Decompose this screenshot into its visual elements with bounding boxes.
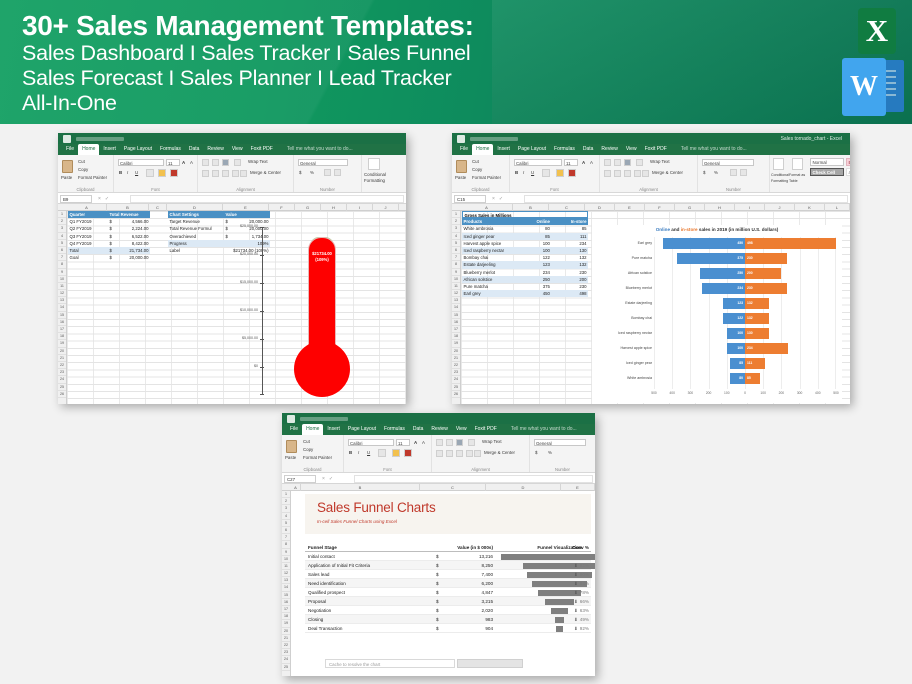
orientation-icon[interactable] [636, 159, 643, 166]
font-size-box[interactable]: 11 [396, 439, 410, 446]
cell-quarter[interactable]: Q4 FY2019 [68, 240, 108, 247]
ribbon-group-font[interactable]: Calibri 11 A A B I U Font [344, 435, 432, 473]
col-F[interactable]: F [645, 204, 675, 211]
row-5[interactable]: 5 [58, 240, 66, 247]
cell-online[interactable]: 122 [515, 254, 552, 261]
align-bottom-icon[interactable] [456, 439, 463, 446]
cell-instore[interactable]: 132 [551, 254, 588, 261]
row-19[interactable]: 19 [452, 340, 460, 347]
tab-foxit-pdf[interactable]: Foxit PDF [641, 144, 671, 155]
row-headers[interactable]: 12 34 56 78 910 1112 1314 1516 1718 1920… [452, 211, 461, 404]
cell-quarter[interactable]: Total [68, 247, 108, 254]
row-18[interactable]: 18 [452, 333, 460, 340]
ribbon-group-styles[interactable]: Conditional Formatting [362, 155, 406, 193]
funnel-row[interactable]: Closing $ 983 ⬇49% [305, 615, 591, 624]
paste-label[interactable]: Paste [61, 175, 72, 181]
wrap-text-label[interactable]: Wrap Text [650, 159, 670, 165]
row-6[interactable]: 6 [452, 247, 460, 254]
cell-online[interactable]: 80 [515, 225, 552, 232]
align-left-icon[interactable] [436, 450, 443, 457]
col-B[interactable]: B [107, 204, 149, 211]
row-24[interactable]: 24 [58, 376, 66, 383]
tab-formulas[interactable]: Formulas [380, 424, 409, 435]
font-name-box[interactable]: Calibri [514, 159, 562, 166]
cell-instore[interactable]: 132 [551, 261, 588, 268]
row-18[interactable]: 18 [58, 333, 66, 340]
row-19[interactable]: 19 [282, 620, 290, 627]
paste-label[interactable]: Paste [285, 455, 296, 461]
percent-style-icon[interactable]: % [714, 170, 718, 176]
italic-button[interactable]: I [523, 170, 524, 176]
row-24[interactable]: 24 [282, 656, 290, 663]
ribbon-group-number[interactable]: General $ % Number [698, 155, 770, 193]
row-7[interactable]: 7 [58, 254, 66, 261]
row-10[interactable]: 10 [282, 556, 290, 563]
col-J[interactable]: J [373, 204, 399, 211]
align-center-icon[interactable] [212, 170, 219, 177]
wrap-text-label[interactable]: Wrap Text [482, 439, 502, 445]
orientation-icon[interactable] [234, 159, 241, 166]
format-as-table-icon[interactable] [792, 158, 803, 170]
tab-insert[interactable]: Insert [493, 144, 514, 155]
grow-font-icon[interactable]: A [414, 440, 417, 446]
grow-font-icon[interactable]: A [182, 160, 185, 166]
cell-online[interactable]: 375 [515, 283, 552, 290]
cell-online[interactable]: 85 [515, 233, 552, 240]
percent-style-icon[interactable]: % [310, 170, 314, 176]
align-right-icon[interactable] [456, 450, 463, 457]
ribbon-tabs[interactable]: FileHomeInsertPage LayoutFormulasDataRev… [58, 144, 406, 155]
ribbon-group-clipboard[interactable]: Paste Cut Copy Format Painter Clipboard [452, 155, 510, 193]
conditional-formatting-label[interactable]: Conditional Formatting [364, 172, 398, 184]
funnel-row[interactable]: Negotiation $ 2,020 ⬇63% [305, 606, 591, 615]
row-17[interactable]: 17 [452, 326, 460, 333]
row-22[interactable]: 22 [58, 362, 66, 369]
decrease-indent-icon[interactable] [232, 170, 239, 177]
ribbon-tabs[interactable]: FileHomeInsertPage LayoutFormulasDataRev… [282, 424, 595, 435]
col-D[interactable]: D [486, 484, 561, 491]
row-25[interactable]: 25 [452, 384, 460, 391]
worksheet-grid[interactable]: A B C D E 12 34 56 78 910 1112 1314 1516… [282, 484, 595, 676]
row-6[interactable]: 6 [58, 247, 66, 254]
col-L[interactable]: L [825, 204, 850, 211]
tab-file[interactable]: File [456, 144, 472, 155]
row-21[interactable]: 21 [282, 635, 290, 642]
formula-input[interactable] [524, 195, 848, 203]
row-14[interactable]: 14 [452, 304, 460, 311]
borders-icon[interactable] [146, 169, 154, 177]
worksheet-grid[interactable]: A B C D E F G H I J 1 2 3 4 5 6 7 8 9 10 [58, 204, 406, 404]
increase-decimal-icon[interactable] [730, 169, 737, 176]
row-24[interactable]: 24 [452, 376, 460, 383]
cell-value[interactable]: 6,522.00 [114, 233, 150, 240]
row-15[interactable]: 15 [452, 312, 460, 319]
col-B[interactable]: B [301, 484, 420, 491]
cell-quarter[interactable]: Q1 FY2019 [68, 218, 108, 225]
tab-view[interactable]: View [452, 424, 471, 435]
row-14[interactable]: 14 [282, 584, 290, 591]
bold-button[interactable]: B [119, 170, 122, 176]
formula-input[interactable] [130, 195, 404, 203]
underline-button[interactable]: U [135, 170, 138, 176]
col-A[interactable]: A [461, 204, 513, 211]
col-A[interactable]: A [291, 484, 301, 491]
funnel-action-button[interactable] [457, 659, 523, 668]
cell-product[interactable]: Iced ginger pear [462, 233, 515, 240]
align-bottom-icon[interactable] [222, 159, 229, 166]
tab-view[interactable]: View [228, 144, 247, 155]
row-11[interactable]: 11 [58, 283, 66, 290]
increase-decimal-icon[interactable] [324, 169, 331, 176]
shrink-font-icon[interactable]: A [422, 440, 425, 446]
formula-bar-icons[interactable]: ×✓ [492, 195, 507, 203]
column-headers[interactable]: A B C D E F G H I J [58, 204, 406, 211]
cell-online[interactable]: 450 [515, 290, 552, 297]
fill-color-icon[interactable] [556, 169, 564, 177]
cell-value[interactable]: 4,566.00 [114, 218, 150, 225]
funnel-table[interactable]: Funnel Stage Value (in $ 000s) Funnel Vi… [305, 543, 591, 633]
tab-formulas[interactable]: Formulas [550, 144, 579, 155]
merge-center-label[interactable]: Merge & Center [484, 450, 515, 456]
style-bad[interactable]: Bad [846, 158, 850, 166]
row-headers[interactable]: 12 34 56 78 910 1112 1314 1516 1718 1920… [282, 491, 291, 676]
cell-instore[interactable]: 200 [551, 276, 588, 283]
tab-file[interactable]: File [286, 424, 302, 435]
borders-icon[interactable] [378, 449, 386, 457]
tab-review[interactable]: Review [597, 144, 621, 155]
row-20[interactable]: 20 [58, 348, 66, 355]
cell-instore[interactable]: 234 [551, 240, 588, 247]
row-1[interactable]: 1 [452, 211, 460, 218]
paste-icon[interactable] [456, 160, 467, 173]
ribbon[interactable]: Paste Cut Copy Format Painter Clipboard … [452, 155, 850, 193]
cell-product[interactable]: Iced raspberry nectar [462, 247, 515, 254]
funnel-row[interactable]: Sales lead $ 7,400 ⬇90% [305, 570, 591, 579]
row-13[interactable]: 13 [282, 577, 290, 584]
italic-button[interactable]: I [358, 450, 359, 456]
merge-center-label[interactable]: Merge & Center [652, 170, 683, 176]
col-F[interactable]: F [269, 204, 295, 211]
funnel-note-input[interactable]: Cache to resolve the chart [325, 659, 455, 668]
row-3[interactable]: 3 [282, 505, 290, 512]
copy-label[interactable]: Copy [303, 447, 313, 453]
row-21[interactable]: 21 [58, 355, 66, 362]
increase-indent-icon[interactable] [474, 450, 481, 457]
row-8[interactable]: 8 [282, 541, 290, 548]
tab-foxit-pdf[interactable]: Foxit PDF [471, 424, 501, 435]
row-15[interactable]: 15 [58, 312, 66, 319]
paste-icon[interactable] [286, 440, 297, 453]
row-10[interactable]: 10 [58, 276, 66, 283]
col-H[interactable]: H [705, 204, 735, 211]
bold-button[interactable]: B [515, 170, 518, 176]
column-headers[interactable]: A B C D E [282, 484, 595, 491]
ribbon-group-clipboard[interactable]: Paste Cut Copy Format Painter Clipboard [58, 155, 114, 193]
name-box[interactable]: C15 [454, 195, 486, 203]
cell-value[interactable]: 2,224.00 [114, 225, 150, 232]
row-18[interactable]: 18 [282, 613, 290, 620]
number-format-box[interactable]: General [702, 159, 754, 166]
row-headers[interactable]: 1 2 3 4 5 6 7 8 9 10 11 12 13 14 15 16 1… [58, 211, 67, 404]
tab-view[interactable]: View [622, 144, 641, 155]
col-J[interactable]: J [765, 204, 795, 211]
tab-file[interactable]: File [62, 144, 78, 155]
shrink-font-icon[interactable]: A [190, 160, 193, 166]
row-13[interactable]: 13 [58, 297, 66, 304]
align-right-icon[interactable] [624, 170, 631, 177]
style-explanatory[interactable]: Explanatory ... [846, 168, 850, 176]
style-check-cell[interactable]: Check Cell [810, 168, 844, 176]
paste-label[interactable]: Paste [455, 175, 466, 181]
cell-instore[interactable]: 230 [551, 269, 588, 276]
ribbon-group-styles[interactable]: Conditional Formatting Format as Table N… [770, 155, 850, 193]
borders-icon[interactable] [542, 169, 550, 177]
row-7[interactable]: 7 [282, 534, 290, 541]
row-25[interactable]: 25 [282, 664, 290, 671]
tab-review[interactable]: Review [427, 424, 451, 435]
cut-label[interactable]: Cut [303, 439, 310, 445]
col-C[interactable]: C [420, 484, 486, 491]
column-headers[interactable]: A B C D E F G H I J K L [452, 204, 850, 211]
row-4[interactable]: 4 [282, 513, 290, 520]
row-23[interactable]: 23 [58, 369, 66, 376]
cell-product[interactable]: Estate darjeeling [462, 261, 515, 268]
col-G[interactable]: G [295, 204, 321, 211]
save-icon[interactable] [287, 415, 295, 423]
excel-window-funnel[interactable]: FileHomeInsertPage LayoutFormulasDataRev… [282, 413, 595, 676]
align-right-icon[interactable] [222, 170, 229, 177]
underline-button[interactable]: U [531, 170, 534, 176]
grow-font-icon[interactable]: A [582, 160, 585, 166]
row-10[interactable]: 10 [452, 276, 460, 283]
tab-formulas[interactable]: Formulas [156, 144, 185, 155]
tab-data[interactable]: Data [579, 144, 598, 155]
col-A[interactable]: A [67, 204, 107, 211]
row-26[interactable]: 26 [452, 391, 460, 398]
align-bottom-icon[interactable] [624, 159, 631, 166]
sheet-subtitle[interactable]: Gross Sales in Millions [462, 211, 588, 218]
cut-label[interactable]: Cut [78, 159, 85, 165]
row-5[interactable]: 5 [452, 240, 460, 247]
tell-me-box[interactable]: Tell me what you want to do... [501, 424, 581, 435]
font-color-icon[interactable] [568, 169, 576, 177]
align-top-icon[interactable] [604, 159, 611, 166]
cell-product[interactable]: Pure matcha [462, 283, 515, 290]
funnel-row[interactable]: Need identification $ 6,200 ⬇84% [305, 579, 591, 588]
cell-online[interactable]: 234 [515, 269, 552, 276]
align-middle-icon[interactable] [212, 159, 219, 166]
row-17[interactable]: 17 [58, 326, 66, 333]
revenue-table[interactable]: Quarter Total Revenue Q1 FY2019$4,566.00… [68, 211, 150, 261]
wrap-text-label[interactable]: Wrap Text [248, 159, 268, 165]
align-center-icon[interactable] [446, 450, 453, 457]
cell-online[interactable]: 100 [515, 247, 552, 254]
funnel-row[interactable]: Application of Initial Fit Criteria $ 8,… [305, 561, 591, 570]
cell-product[interactable]: African solstice [462, 276, 515, 283]
funnel-row[interactable]: Deal Transaction $ 904 ⬇92% [305, 624, 591, 633]
row-1[interactable]: 1 [58, 211, 66, 218]
cell-value[interactable]: 20,000.00 [114, 254, 150, 261]
row-1[interactable]: 1 [282, 491, 290, 498]
row-15[interactable]: 15 [282, 592, 290, 599]
formula-input[interactable] [354, 475, 593, 483]
conditional-formatting-label[interactable]: Conditional Formatting [771, 172, 787, 184]
cell-online[interactable]: 123 [515, 261, 552, 268]
font-name-box[interactable]: Calibri [348, 439, 394, 446]
col-B[interactable]: B [513, 204, 549, 211]
conditional-formatting-icon[interactable] [368, 158, 380, 170]
align-left-icon[interactable] [604, 170, 611, 177]
col-H[interactable]: H [321, 204, 347, 211]
tab-page-layout[interactable]: Page Layout [514, 144, 550, 155]
quick-access-toolbar[interactable] [300, 417, 348, 421]
tab-page-layout[interactable]: Page Layout [120, 144, 156, 155]
ribbon-group-font[interactable]: Calibri 11 A A B I U Font [510, 155, 600, 193]
italic-button[interactable]: I [127, 170, 128, 176]
funnel-row[interactable]: Qualified prospect $ 4,847 ⬇78% [305, 588, 591, 597]
tab-home[interactable]: Home [302, 424, 323, 435]
quick-access-toolbar[interactable] [470, 137, 518, 141]
tell-me-box[interactable]: Tell me what you want to do... [277, 144, 357, 155]
number-format-box[interactable]: General [298, 159, 348, 166]
cell-instore[interactable]: 111 [551, 233, 588, 240]
ribbon-group-alignment[interactable]: Wrap Text Merge & Center Alignment [600, 155, 698, 193]
cell-instore[interactable]: 130 [551, 247, 588, 254]
cut-label[interactable]: Cut [472, 159, 479, 165]
name-box[interactable]: B9 [60, 195, 92, 203]
row-22[interactable]: 22 [452, 362, 460, 369]
name-box[interactable]: C27 [284, 475, 316, 483]
font-size-box[interactable]: 11 [166, 159, 180, 166]
decrease-decimal-icon[interactable] [334, 169, 341, 176]
excel-window-tornado[interactable]: Sales tornado_chart - Excel FileHomeInse… [452, 133, 850, 403]
ribbon-group-font[interactable]: Calibri 11 A A B I U Font [114, 155, 198, 193]
row-4[interactable]: 4 [452, 233, 460, 240]
row-9[interactable]: 9 [282, 549, 290, 556]
row-19[interactable]: 19 [58, 340, 66, 347]
ribbon-group-number[interactable]: General $ % Number [294, 155, 362, 193]
bold-button[interactable]: B [349, 450, 352, 456]
shrink-font-icon[interactable]: A [590, 160, 593, 166]
tornado-chart[interactable]: Online and in-store sales in 2019 (in mi… [592, 225, 842, 403]
row-21[interactable]: 21 [452, 355, 460, 362]
save-icon[interactable] [457, 135, 465, 143]
align-middle-icon[interactable] [614, 159, 621, 166]
col-I[interactable]: I [735, 204, 765, 211]
formula-bar[interactable]: C15 ×✓ [452, 193, 850, 204]
row-4[interactable]: 4 [58, 233, 66, 240]
ribbon-group-alignment[interactable]: Wrap Text Merge & Center Alignment [198, 155, 294, 193]
funnel-row[interactable]: Proposal $ 3,215 ⬇66% [305, 597, 591, 606]
row-12[interactable]: 12 [282, 570, 290, 577]
row-22[interactable]: 22 [282, 642, 290, 649]
worksheet-grid[interactable]: A B C D E F G H I J K L 12 34 56 78 910 … [452, 204, 850, 404]
cell-quarter[interactable]: Q2 FY2019 [68, 225, 108, 232]
row-3[interactable]: 3 [452, 225, 460, 232]
percent-style-icon[interactable]: % [548, 450, 552, 456]
ribbon-tabs[interactable]: FileHomeInsertPage LayoutFormulasDataRev… [452, 144, 850, 155]
col-E[interactable]: E [561, 484, 595, 491]
row-9[interactable]: 9 [452, 269, 460, 276]
copy-label[interactable]: Copy [78, 167, 88, 173]
cell-instore[interactable]: 230 [551, 283, 588, 290]
row-2[interactable]: 2 [452, 218, 460, 225]
col-D[interactable]: D [167, 204, 223, 211]
formula-bar[interactable]: B9 ×✓ [58, 193, 406, 204]
tab-page-layout[interactable]: Page Layout [344, 424, 380, 435]
col-C[interactable]: C [549, 204, 585, 211]
row-2[interactable]: 2 [282, 498, 290, 505]
tab-data[interactable]: Data [409, 424, 428, 435]
cell-value[interactable]: 8,422.00 [114, 240, 150, 247]
cell-quarter[interactable]: Goal [68, 254, 108, 261]
style-normal[interactable]: Normal [810, 158, 844, 166]
conditional-formatting-icon[interactable] [773, 158, 784, 170]
tab-insert[interactable]: Insert [99, 144, 120, 155]
align-center-icon[interactable] [614, 170, 621, 177]
format-painter-label[interactable]: Format Painter [303, 455, 332, 461]
row-8[interactable]: 8 [58, 261, 66, 268]
format-as-table-label[interactable]: Format as Table [789, 172, 806, 184]
row-11[interactable]: 11 [452, 283, 460, 290]
row-20[interactable]: 20 [282, 628, 290, 635]
row-26[interactable]: 26 [58, 391, 66, 398]
align-top-icon[interactable] [202, 159, 209, 166]
cell-product[interactable]: Earl grey [462, 290, 515, 297]
formula-bar-icons[interactable]: ×✓ [322, 475, 337, 483]
font-name-box[interactable]: Calibri [118, 159, 164, 166]
ribbon[interactable]: Paste Cut Copy Format Painter Clipboard … [282, 435, 595, 473]
row-11[interactable]: 11 [282, 563, 290, 570]
row-12[interactable]: 12 [58, 290, 66, 297]
col-K[interactable]: K [795, 204, 825, 211]
decrease-indent-icon[interactable] [634, 170, 641, 177]
tab-home[interactable]: Home [78, 144, 99, 155]
fill-color-icon[interactable] [158, 169, 166, 177]
align-left-icon[interactable] [202, 170, 209, 177]
row-20[interactable]: 20 [452, 348, 460, 355]
row-14[interactable]: 14 [58, 304, 66, 311]
formula-bar-icons[interactable]: ×✓ [98, 195, 113, 203]
row-23[interactable]: 23 [452, 369, 460, 376]
cell-product[interactable]: White ambrosia [462, 225, 515, 232]
quick-access-toolbar[interactable] [76, 137, 124, 141]
row-13[interactable]: 13 [452, 297, 460, 304]
save-icon[interactable] [63, 135, 71, 143]
row-5[interactable]: 5 [282, 520, 290, 527]
tab-review[interactable]: Review [203, 144, 227, 155]
col-E[interactable]: E [223, 204, 269, 211]
cell-online[interactable]: 250 [515, 276, 552, 283]
ribbon-group-clipboard[interactable]: Paste Cut Copy Format Painter Clipboard [282, 435, 344, 473]
paste-icon[interactable] [62, 160, 73, 173]
cell-quarter[interactable]: Q3 FY2019 [68, 233, 108, 240]
tab-foxit-pdf[interactable]: Foxit PDF [247, 144, 277, 155]
cell-value[interactable]: 21,734.00 [114, 247, 150, 254]
number-format-box[interactable]: General [534, 439, 586, 446]
row-16[interactable]: 16 [452, 319, 460, 326]
formula-bar[interactable]: C27 ×✓ [282, 473, 595, 484]
row-8[interactable]: 8 [452, 261, 460, 268]
row-25[interactable]: 25 [58, 384, 66, 391]
funnel-row[interactable]: Initial contact $ 13,216 [305, 552, 591, 561]
row-17[interactable]: 17 [282, 606, 290, 613]
row-16[interactable]: 16 [282, 599, 290, 606]
align-top-icon[interactable] [436, 439, 443, 446]
row-16[interactable]: 16 [58, 319, 66, 326]
tab-data[interactable]: Data [185, 144, 204, 155]
ribbon[interactable]: Paste Cut Copy Format Painter Clipboard … [58, 155, 406, 193]
